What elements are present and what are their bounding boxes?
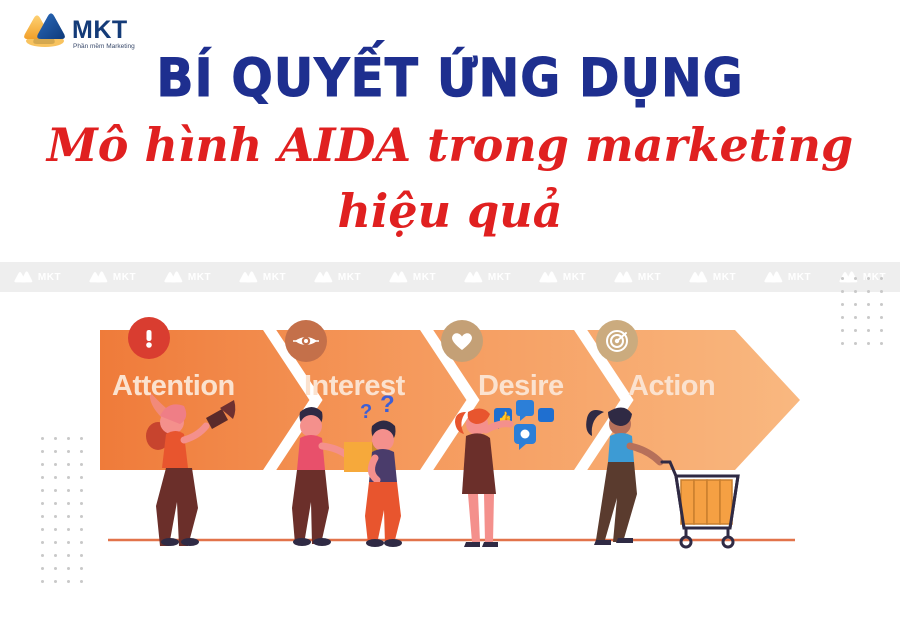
mkt-mountain-logo-icon (14, 270, 34, 284)
stage-badge-attention (128, 317, 170, 359)
exclamation-icon (139, 327, 159, 349)
heart-icon (451, 331, 473, 351)
watermark-strip: MKT MKT MKT MKT (0, 262, 900, 292)
watermark-label: MKT (338, 272, 361, 283)
mkt-logo: MKT Phần mềm Marketing (18, 8, 168, 56)
target-icon (605, 329, 629, 353)
mkt-mountain-logo-icon (89, 270, 109, 284)
mkt-mountain-logo-icon (614, 270, 634, 284)
mkt-mountain-logo-icon (764, 270, 784, 284)
stage-badge-desire (441, 320, 483, 362)
mkt-mountain-logo-icon (689, 270, 709, 284)
watermark-label: MKT (488, 272, 511, 283)
watermark-label: MKT (563, 272, 586, 283)
logo-tagline: Phần mềm Marketing (73, 41, 135, 50)
stage-label-interest: Interest (304, 370, 405, 403)
poster-canvas: MKT Phần mềm Marketing BÍ QUYẾT ỨNG DỤNG… (0, 0, 900, 630)
mkt-mountain-logo-icon (539, 270, 559, 284)
mkt-mountain-logo-icon (389, 270, 409, 284)
mkt-mountain-logo-icon (314, 270, 334, 284)
watermark-label: MKT (113, 272, 136, 283)
mkt-mountain-logo-icon (239, 270, 259, 284)
stage-label-desire: Desire (478, 370, 564, 403)
watermark-label: MKT (38, 272, 61, 283)
stage-label-attention: Attention (112, 370, 235, 403)
stage-label-action: Action (628, 370, 715, 403)
watermark-label: MKT (638, 272, 661, 283)
watermark-label: MKT (713, 272, 736, 283)
stage-badge-interest (285, 320, 327, 362)
watermark-item: MKT (375, 270, 450, 284)
mkt-mountain-logo-icon (24, 14, 65, 48)
watermark-label: MKT (188, 272, 211, 283)
watermark-item: MKT (75, 270, 150, 284)
watermark-label: MKT (263, 272, 286, 283)
watermark-label: MKT (788, 272, 811, 283)
watermark-label: MKT (413, 272, 436, 283)
mkt-mountain-logo-icon (164, 270, 184, 284)
eye-icon (293, 332, 319, 350)
watermark-item: MKT (525, 270, 600, 284)
question-mark-icon: ? (360, 401, 372, 423)
mkt-mountain-logo-icon (464, 270, 484, 284)
stage-badge-action (596, 320, 638, 362)
watermark-item: MKT (150, 270, 225, 284)
headline-line-1: BÍ QUYẾT ỨNG DỤNG (36, 52, 864, 105)
watermark-item: MKT (675, 270, 750, 284)
headline-line-2: Mô hình AIDA trong marketing (0, 122, 900, 169)
watermark-item: MKT (600, 270, 675, 284)
watermark-item: MKT (0, 270, 75, 284)
watermark-item: MKT (300, 270, 375, 284)
logo-wordmark: MKT (72, 16, 128, 44)
shopping-cart-icon (662, 462, 738, 547)
watermark-item: MKT (450, 270, 525, 284)
watermark-item: MKT (225, 270, 300, 284)
watermark-item: MKT (750, 270, 825, 284)
headline-line-3: hiệu quả (0, 188, 900, 235)
